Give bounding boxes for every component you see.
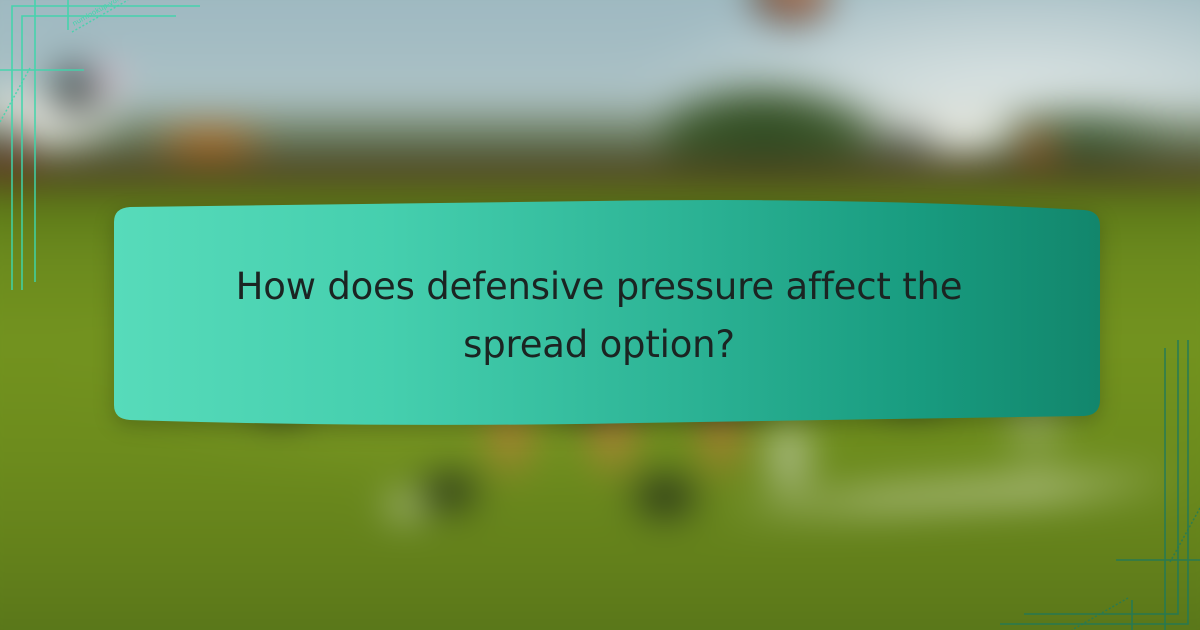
pink-flag	[85, 58, 131, 98]
question-text: How does defensive pressure affect the s…	[96, 258, 1102, 374]
question-line-2: spread option?	[166, 316, 1032, 374]
share-card-canvas: numlookup-voice.com	[0, 0, 1200, 630]
question-line-1: How does defensive pressure affect the	[166, 258, 1032, 316]
player-cleat-right	[625, 468, 705, 524]
car-shadow	[860, 128, 950, 154]
question-card: How does defensive pressure affect the s…	[96, 194, 1102, 434]
player-cleat-left	[415, 465, 485, 517]
